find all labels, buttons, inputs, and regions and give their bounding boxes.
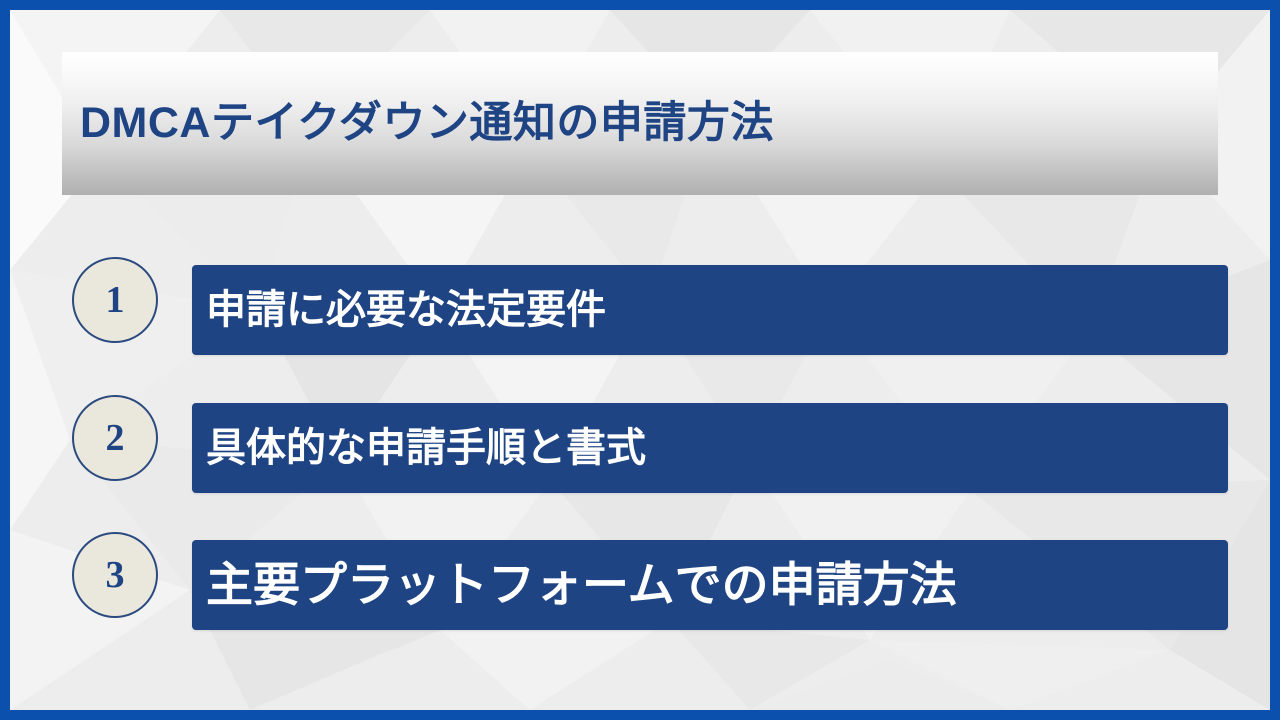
page-title: DMCAテイクダウン通知の申請方法 (80, 100, 774, 147)
slide-canvas: DMCAテイクダウン通知の申請方法 1 申請に必要な法定要件 2 具体的な申請手… (10, 10, 1270, 710)
step-number-badge: 1 (72, 257, 158, 343)
step-number: 1 (106, 281, 125, 319)
list-item[interactable]: 2 具体的な申請手順と書式 (20, 393, 1228, 483)
step-number: 3 (106, 556, 125, 594)
slide-root: DMCAテイクダウン通知の申請方法 1 申請に必要な法定要件 2 具体的な申請手… (0, 0, 1280, 720)
step-label: 具体的な申請手順と書式 (206, 427, 646, 469)
list-item[interactable]: 3 主要プラットフォームでの申請方法 (20, 530, 1228, 620)
list-item[interactable]: 1 申請に必要な法定要件 (20, 255, 1228, 345)
step-number-badge: 3 (72, 532, 158, 618)
step-bar[interactable]: 具体的な申請手順と書式 (192, 403, 1228, 493)
step-number-badge: 2 (72, 395, 158, 481)
step-label: 主要プラットフォームでの申請方法 (206, 560, 957, 609)
step-label: 申請に必要な法定要件 (206, 289, 606, 331)
title-banner: DMCAテイクダウン通知の申請方法 (62, 52, 1218, 195)
step-bar[interactable]: 主要プラットフォームでの申請方法 (192, 540, 1228, 630)
step-number: 2 (106, 419, 125, 457)
step-bar[interactable]: 申請に必要な法定要件 (192, 265, 1228, 355)
